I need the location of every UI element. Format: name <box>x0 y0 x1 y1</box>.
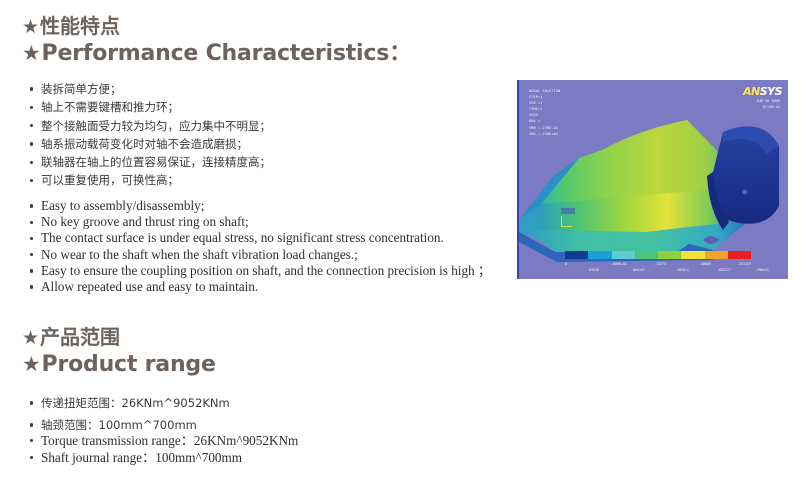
legend-swatch <box>565 251 588 259</box>
model-hub-marker <box>743 190 748 195</box>
performance-bullets-en: Easy to assembly/disassembly; No key gro… <box>30 198 491 295</box>
legend-tick-label: .0ex147 <box>631 268 645 272</box>
bullet-dot-icon <box>30 253 33 256</box>
legend-tick-label: .296x41 <box>755 268 769 272</box>
list-item-label: Torque transmission range：26KNm^9052KNm <box>41 433 298 448</box>
product-spec-page: ★性能特点 ★Performance Characteristics： 装拆简单… <box>0 0 811 477</box>
product-range-bullets-cn: 传递扭矩范围：26KNm^9052KNm 轴颈范围：100mm^700mm <box>30 392 230 436</box>
product-range-bullets-en: Torque transmission range：26KNm^9052KNm … <box>30 432 298 466</box>
star-icon: ★ <box>22 351 41 377</box>
legend-tick-label: 0 <box>565 262 567 266</box>
legend-swatch <box>728 251 751 259</box>
star-icon: ★ <box>22 327 39 350</box>
list-item-label: Easy to assembly/disassembly; <box>41 198 204 213</box>
legend-tick-label: .03318 <box>587 268 599 272</box>
legend-swatch <box>681 251 704 259</box>
product-range-heading-cn: ★产品范围 <box>22 325 216 350</box>
star-icon: ★ <box>22 16 39 39</box>
bullet-dot-icon <box>30 439 33 442</box>
list-item: 整个接触面受力较为均匀，应力集中不明显； <box>30 117 271 135</box>
product-range-heading-en-text: Product range <box>42 352 216 377</box>
list-item: No key groove and thrust ring on shaft; <box>30 214 491 230</box>
performance-heading-en-text: Performance Characteristics： <box>42 41 411 66</box>
list-item: 可以重复使用，可换性高； <box>30 171 271 189</box>
performance-heading-en: ★Performance Characteristics： <box>22 40 411 68</box>
coupling-stress-model <box>517 80 788 279</box>
bullet-dot-icon <box>30 142 33 145</box>
list-item: The contact surface is under equal stres… <box>30 230 491 246</box>
bullet-dot-icon <box>30 423 33 426</box>
performance-heading-cn-text: 性能特点 <box>40 14 120 38</box>
legend-tick-label: .18885 <box>699 262 711 266</box>
coordinate-axes-icon <box>561 216 572 227</box>
list-item: Torque transmission range：26KNm^9052KNm <box>30 432 298 449</box>
list-item-label: Easy to ensure the coupling position on … <box>41 263 491 278</box>
list-item-label: 可以重复使用，可换性高； <box>41 173 179 187</box>
list-item: 联轴器在轴上的位置容易保证，连接精度高； <box>30 153 271 171</box>
bullet-dot-icon <box>30 237 33 240</box>
bullet-dot-icon <box>30 456 33 459</box>
list-item: Shaft journal range：100mm^700mm <box>30 449 298 466</box>
star-icon: ★ <box>22 40 41 66</box>
stress-legend-labels: 0 .806E+01 .13273 .18885 .2x14CR .03318 … <box>559 262 759 275</box>
legend-tick-label: .13273 <box>654 262 666 266</box>
list-item-label: 整个接触面受力较为均匀，应力集中不明显； <box>41 119 271 133</box>
legend-tick-label: .2x14CR <box>737 262 751 266</box>
legend-tick-label: .032277 <box>717 268 731 272</box>
bullet-dot-icon <box>30 124 33 127</box>
list-item-label: No key groove and thrust ring on shaft; <box>41 214 249 229</box>
bullet-dot-icon <box>30 269 33 272</box>
list-item-label: Shaft journal range：100mm^700mm <box>41 450 242 465</box>
stress-legend-bar <box>565 251 751 259</box>
list-item-label: The contact surface is under equal stres… <box>41 230 444 245</box>
product-range-heading-en: ★Product range <box>22 351 216 379</box>
product-range-heading-cn-text: 产品范围 <box>40 325 120 349</box>
legend-swatch <box>612 251 635 259</box>
list-item: Allow repeated use and easy to maintain. <box>30 279 491 295</box>
legend-swatch <box>705 251 728 259</box>
legend-swatch <box>658 251 681 259</box>
legend-tick-label: .806E+01 <box>611 262 627 266</box>
list-item: Easy to assembly/disassembly; <box>30 198 491 214</box>
legend-tick-label: .16CR+1 <box>675 268 689 272</box>
legend-swatch <box>635 251 658 259</box>
list-item: 传递扭矩范围：26KNm^9052KNm <box>30 392 230 414</box>
list-item-label: 装拆简单方便； <box>41 82 122 96</box>
legend-swatch <box>588 251 611 259</box>
bullet-dot-icon <box>30 179 33 182</box>
model-slot <box>561 208 575 214</box>
bullet-dot-icon <box>30 106 33 109</box>
performance-heading-cn: ★性能特点 <box>22 14 411 39</box>
ansys-analysis-figure: NODAL SOLUTION STEP=1 SUB =1 TIME=1 SEQV… <box>508 76 790 281</box>
bullet-dot-icon <box>30 204 33 207</box>
performance-bullets-cn: 装拆简单方便； 轴上不需要键槽和推力环； 整个接触面受力较为均匀，应力集中不明显… <box>30 80 271 190</box>
product-range-heading-block: ★产品范围 ★Product range <box>22 325 216 378</box>
list-item-label: 轴颈范围：100mm^700mm <box>41 418 197 432</box>
list-item: 装拆简单方便； <box>30 80 271 98</box>
performance-heading-block: ★性能特点 ★Performance Characteristics： <box>22 14 411 67</box>
bullet-dot-icon <box>30 401 33 404</box>
bullet-dot-icon <box>30 87 33 90</box>
list-item-label: 轴系振动载荷变化时对轴不会造成磨损； <box>41 137 248 151</box>
bullet-dot-icon <box>30 221 33 224</box>
list-item-label: 传递扭矩范围：26KNm^9052KNm <box>41 396 230 410</box>
list-item: 轴系振动载荷变化时对轴不会造成磨损； <box>30 135 271 153</box>
list-item: 轴上不需要键槽和推力环； <box>30 98 271 116</box>
list-item-label: No wear to the shaft when the shaft vibr… <box>41 247 358 262</box>
list-item-label: Allow repeated use and easy to maintain. <box>41 279 258 294</box>
bullet-dot-icon <box>30 161 33 164</box>
list-item-label: 轴上不需要键槽和推力环； <box>41 100 179 114</box>
ansys-viewport: NODAL SOLUTION STEP=1 SUB =1 TIME=1 SEQV… <box>517 80 788 279</box>
list-item-label: 联轴器在轴上的位置容易保证，连接精度高； <box>41 155 271 169</box>
list-item: Easy to ensure the coupling position on … <box>30 263 491 279</box>
list-item: No wear to the shaft when the shaft vibr… <box>30 247 491 263</box>
bullet-dot-icon <box>30 285 33 288</box>
